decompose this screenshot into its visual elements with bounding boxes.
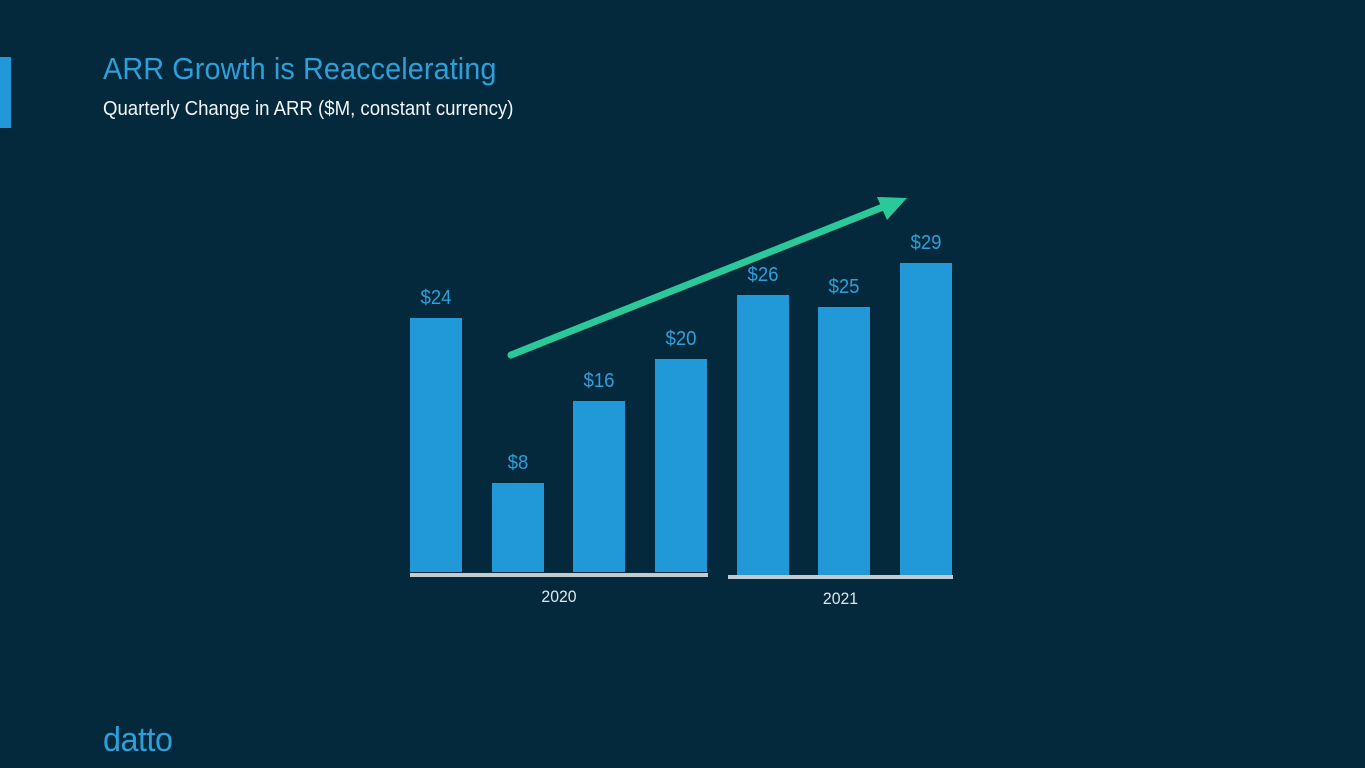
datto-logo: datto <box>103 722 172 758</box>
bar-q2-2020 <box>492 483 544 572</box>
bar-value-label: $24 <box>390 288 483 308</box>
bar-value-label: $25 <box>798 277 891 297</box>
bar-q4-2020 <box>655 359 707 572</box>
year-label-2021: 2021 <box>736 590 945 607</box>
bar-value-label: $20 <box>635 329 728 349</box>
bar-q1-2021 <box>737 295 789 575</box>
bar-value-label: $29 <box>880 233 973 253</box>
bar-value-label: $16 <box>553 371 646 391</box>
bar-q1-2020 <box>410 318 462 572</box>
arrow-head <box>877 197 907 220</box>
axis-baseline-2020 <box>410 573 708 577</box>
slide-canvas: ARR Growth is Reaccelerating Quarterly C… <box>0 0 1365 768</box>
bar-q3-2021 <box>900 263 952 575</box>
axis-baseline-2021 <box>728 575 953 579</box>
bar-value-label: $26 <box>717 265 810 285</box>
bar-q3-2020 <box>573 401 625 572</box>
bar-chart: $24$8$16$20$26$25$29 20202021 <box>0 0 1365 768</box>
year-label-2020: 2020 <box>420 588 697 605</box>
bar-q2-2021 <box>818 307 870 575</box>
bar-value-label: $8 <box>472 453 565 473</box>
